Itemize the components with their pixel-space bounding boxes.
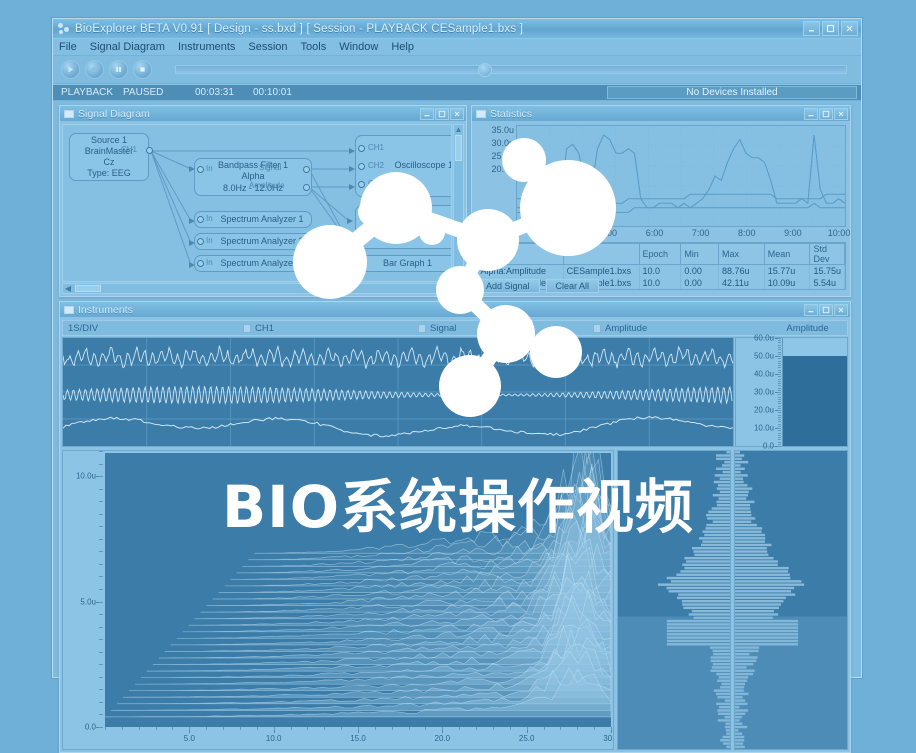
menu-item-file[interactable]: File	[59, 41, 77, 53]
bar-y-minor-tick	[778, 419, 781, 420]
bar-y-minor-tick	[778, 374, 781, 375]
bar-y-minor-tick	[778, 446, 781, 447]
waterfall-y-minor-tick	[99, 451, 103, 452]
waterfall-x-minor-tick	[577, 727, 578, 730]
statistics-chart-lines	[517, 126, 845, 226]
source-out-port-label: CH1	[121, 145, 137, 154]
bar-y-tick-label: 10.0u	[754, 424, 774, 433]
waterfall-y-minor-tick	[99, 551, 103, 552]
window-controls	[803, 21, 858, 36]
waterfall-x-minor-tick	[324, 727, 325, 730]
bar-y-minor-tick	[778, 401, 781, 402]
maximize-icon[interactable]	[819, 108, 833, 120]
waterfall-y-minor-tick	[99, 689, 103, 690]
node-trigger-enable[interactable]: Trigger Enable	[355, 205, 452, 249]
signal-color-chip	[418, 324, 426, 333]
window-icon	[64, 306, 74, 314]
bar-y-minor-tick	[778, 370, 781, 371]
table-header-row: Epoch Min Max Mean Std Dev	[478, 244, 845, 265]
waterfall-x-tick-label: 5.0	[184, 734, 195, 743]
bar-y-minor-tick	[778, 342, 781, 343]
scope-ch1-label: CH1	[368, 143, 384, 152]
bar-y-minor-tick	[778, 439, 781, 440]
bar-y-minor-tick	[778, 410, 781, 411]
signal-diagram-vscrollbar[interactable]: ▲	[453, 124, 464, 282]
bar-y-minor-tick	[778, 394, 781, 395]
statistics-chart-xaxis: 4:005:006:007:008:009:0010:00	[516, 228, 846, 240]
bar-y-minor-tick	[778, 354, 781, 355]
playback-slider[interactable]	[175, 65, 847, 74]
bar-y-minor-tick	[778, 363, 781, 364]
timebase-label: 1S/DIV	[63, 323, 238, 334]
source-out-port[interactable]	[146, 147, 153, 154]
waterfall-x-minor-tick	[392, 727, 393, 730]
bar-y-minor-tick	[778, 430, 781, 431]
analyzer-2-in-port[interactable]	[197, 238, 204, 245]
waterfall-x-minor-tick	[307, 727, 308, 730]
scroll-left-icon[interactable]: ◀	[63, 284, 73, 294]
analyzer-3-in-port[interactable]	[197, 260, 204, 267]
filter-amplitude-port[interactable]	[303, 184, 310, 191]
col-epoch: Epoch	[639, 244, 681, 265]
waterfall-y-minor-tick	[99, 627, 103, 628]
waterfall-x-minor-tick	[122, 727, 123, 730]
bar-y-minor-tick	[778, 352, 781, 353]
close-icon[interactable]	[450, 108, 464, 120]
scope-ch3-label: CH3	[368, 179, 384, 188]
y-tick-label: 30.0u	[491, 138, 514, 148]
waterfall-x-minor-tick	[139, 727, 140, 730]
waterfall-y-minor-tick	[99, 589, 103, 590]
ch1-legend[interactable]: CH1	[238, 323, 413, 334]
bar-y-minor-tick	[778, 379, 781, 380]
status-state: PAUSED	[119, 87, 191, 98]
bar-y-minor-tick	[778, 435, 781, 436]
x-tick-label: 10:00	[828, 228, 850, 238]
ch1-label: CH1	[255, 323, 274, 334]
play-button[interactable]	[61, 60, 80, 79]
window-title: BioExplorer BETA V0.91 [ Design - ss.bxd…	[75, 23, 803, 35]
statistics-chart: 35.0u30.0u25.0u20.0u	[476, 125, 846, 227]
bar-y-minor-tick	[778, 358, 781, 359]
scroll-up-icon[interactable]: ▲	[454, 125, 463, 135]
mean-cell: 4.01u	[764, 289, 810, 291]
bar-y-minor-tick	[778, 415, 781, 416]
waterfall-y-minor-tick	[99, 639, 103, 640]
bar-y-tick-label: 50.0u	[754, 351, 774, 360]
bar-graph-label: Bar Graph 1	[383, 258, 432, 269]
menu-item-signal-diagram[interactable]: Signal Diagram	[90, 41, 165, 53]
bar-y-minor-tick	[778, 381, 781, 382]
bar-y-minor-tick	[778, 372, 781, 373]
bar-y-minor-tick	[778, 399, 781, 400]
waterfall-y-minor-tick	[99, 652, 103, 653]
signal-diagram-canvas[interactable]: Source 1 BrainMaster Cz Type: EEG CH1 Ba…	[62, 124, 452, 282]
col-min: Min	[681, 244, 719, 265]
waterfall-y-minor-tick	[99, 702, 103, 703]
bar-y-minor-tick	[778, 397, 781, 398]
scope-ch3-port[interactable]	[358, 181, 365, 188]
max-cell: 25.25u	[718, 289, 764, 291]
enable-label: Enable	[393, 227, 421, 238]
waveform-traces	[63, 338, 733, 446]
col-signal	[478, 244, 564, 265]
status-elapsed: 00:03:31	[191, 87, 249, 98]
waterfall-x-minor-tick	[409, 727, 410, 730]
mean-cell: 10.09u	[764, 277, 810, 289]
signal-cell: Alpha:Amplitude	[478, 265, 564, 277]
clear-all-button[interactable]: Clear All	[546, 279, 600, 293]
waterfall-x-minor-tick	[425, 727, 426, 730]
waterfall-x-minor-tick	[527, 727, 528, 730]
analyzer-1-in-port[interactable]	[197, 216, 204, 223]
waterfall-x-minor-tick	[544, 727, 545, 730]
waterfall-x-minor-tick	[156, 727, 157, 730]
bar-y-minor-tick	[778, 345, 781, 346]
analyzer-1-label: Spectrum Analyzer 1	[220, 214, 303, 225]
waterfall-y-minor-tick	[99, 664, 103, 665]
min-cell: 0.00	[681, 265, 719, 277]
waterfall-x-minor-tick	[459, 727, 460, 730]
bar-y-minor-tick	[778, 412, 781, 413]
statistics-chart-plot	[516, 125, 846, 227]
waterfall-y-minor-tick	[99, 677, 103, 678]
bar-y-minor-tick	[778, 340, 781, 341]
epoch-cell: 10.0	[639, 289, 681, 291]
filter-in-port[interactable]	[197, 166, 204, 173]
waterfall-x-tick-label: 15.0	[350, 734, 366, 743]
source-site: Cz	[104, 157, 115, 168]
bar-graph-area	[782, 338, 847, 446]
minimize-icon[interactable]	[804, 108, 818, 120]
waterfall-xaxis: 5.010.015.020.025.030.0	[105, 727, 611, 747]
signal-diagram-body: Source 1 BrainMaster Cz Type: EEG CH1 Ba…	[60, 122, 466, 296]
waterfall-y-tick-label: 0.0	[85, 723, 96, 732]
waterfall-x-minor-tick	[172, 727, 173, 730]
analyzer-1-in-label: In	[206, 214, 213, 223]
y-tick-label: 25.0u	[491, 151, 514, 161]
title-bar[interactable]: BioExplorer BETA V0.91 [ Design - ss.bxd…	[53, 19, 861, 39]
statistics-title-bar[interactable]: Statistics	[472, 106, 850, 122]
waterfall-x-minor-tick	[476, 727, 477, 730]
menu-item-window[interactable]: Window	[339, 41, 378, 53]
status-bar: PLAYBACK PAUSED 00:03:31 00:10:01 No Dev…	[53, 84, 861, 101]
add-signal-button[interactable]: Add Signal	[476, 279, 540, 293]
waterfall-y-minor-tick	[99, 464, 103, 465]
std-cell: 15.75u	[810, 265, 845, 277]
waterfall-x-minor-tick	[375, 727, 376, 730]
waterfall-x-minor-tick	[257, 727, 258, 730]
menu-item-tools[interactable]: Tools	[301, 41, 327, 53]
waterfall-y-minor-tick	[99, 476, 103, 477]
x-tick-label: 4:00	[553, 228, 571, 238]
signal-label: Signal	[430, 323, 456, 334]
vscroll-thumb[interactable]	[455, 135, 462, 161]
analyzer-2-in-label: In	[206, 236, 213, 245]
waterfall-x-minor-tick	[240, 727, 241, 730]
mean-cell: 15.77u	[764, 265, 810, 277]
filter-in-label: In	[206, 164, 213, 173]
bar-y-minor-tick	[778, 428, 781, 429]
waterfall-y-minor-tick	[99, 714, 103, 715]
bar-y-minor-tick	[778, 383, 781, 384]
epoch-cell: 10.0	[639, 277, 681, 289]
bar-y-minor-tick	[778, 408, 781, 409]
waterfall-x-tick-label: 25.0	[519, 734, 535, 743]
bar-y-tick-label: 30.0u	[754, 388, 774, 397]
stop-button[interactable]	[133, 60, 152, 79]
filter-signal-label: Signal	[259, 163, 281, 172]
toolbar	[53, 56, 861, 84]
status-mode: PLAYBACK	[57, 87, 119, 98]
playback-slider-thumb[interactable]	[478, 63, 492, 77]
window-icon	[64, 110, 74, 118]
ch1-color-chip	[243, 324, 251, 333]
status-devices: No Devices Installed	[607, 86, 857, 99]
source-type: Type: EEG	[87, 168, 131, 179]
waterfall-x-minor-tick	[611, 727, 612, 730]
menu-item-instruments[interactable]: Instruments	[178, 41, 235, 53]
waterfall-x-minor-tick	[493, 727, 494, 730]
max-cell: 42.11u	[718, 277, 764, 289]
menu-item-help[interactable]: Help	[391, 41, 414, 53]
bar-y-minor-tick	[778, 433, 781, 434]
waterfall-x-tick-label: 20.0	[435, 734, 451, 743]
col-file	[563, 244, 639, 265]
y-tick-label: 35.0u	[491, 125, 514, 135]
waterfall-x-minor-tick	[223, 727, 224, 730]
scope-ch2-port[interactable]	[358, 163, 365, 170]
waterfall-x-minor-tick	[206, 727, 207, 730]
x-tick-label: 7:00	[692, 228, 710, 238]
minimize-icon[interactable]	[803, 21, 820, 36]
waterfall-y-minor-tick	[99, 614, 103, 615]
maximize-icon[interactable]	[822, 21, 839, 36]
waterfall-x-minor-tick	[560, 727, 561, 730]
waterfall-y-minor-tick	[99, 602, 103, 603]
menu-bar: File Signal Diagram Instruments Session …	[53, 39, 861, 56]
waterfall-y-minor-tick	[99, 564, 103, 565]
bar-y-minor-tick	[778, 390, 781, 391]
epoch-cell: 10.0	[639, 265, 681, 277]
analyzer-3-label: Spectrum Analyzer 3	[220, 258, 303, 269]
scope-ch1-port[interactable]	[358, 145, 365, 152]
bar-y-minor-tick	[778, 361, 781, 362]
statistics-buttons: Add Signal Clear All	[476, 279, 599, 293]
minimize-icon[interactable]	[420, 108, 434, 120]
application-window: BioExplorer BETA V0.91 [ Design - ss.bxd…	[52, 18, 862, 678]
waterfall-x-minor-tick	[358, 727, 359, 730]
pause-button[interactable]	[109, 60, 128, 79]
amplitude-label: Amplitude	[605, 323, 647, 334]
bar-y-minor-tick	[778, 349, 781, 350]
instruments-title-bar[interactable]: Instruments	[60, 302, 850, 318]
waterfall-x-minor-tick	[341, 727, 342, 730]
col-max: Max	[718, 244, 764, 265]
filter-amplitude-label: Amplitude	[249, 181, 285, 190]
trigger-label: Trigger	[393, 216, 421, 227]
signal-diagram-hscrollbar[interactable]: ◀	[62, 283, 452, 294]
waterfall-y-minor-tick	[99, 576, 103, 577]
instruments-title: Instruments	[78, 304, 803, 316]
bar-y-tick-label: 60.0u	[754, 334, 774, 343]
std-cell: 2.50u	[810, 289, 845, 291]
waveform-traces-panel[interactable]	[62, 337, 734, 447]
bar-y-minor-tick	[778, 367, 781, 368]
maximize-icon[interactable]	[819, 304, 833, 316]
table-row[interactable]: Alpha:AmplitudeCESample1.bxs10.00.0088.7…	[478, 265, 845, 277]
waterfall-x-minor-tick	[442, 727, 443, 730]
file-cell: CESample1.bxs	[563, 265, 639, 277]
bar-y-minor-tick	[778, 388, 781, 389]
bar-y-minor-tick	[778, 347, 781, 348]
signal-diagram-window: Signal Diagram	[59, 105, 467, 297]
bar-graph-title: Amplitude	[768, 323, 847, 334]
statistics-title: Statistics	[490, 108, 803, 120]
x-tick-label: 9:00	[784, 228, 802, 238]
bar-y-minor-tick	[778, 356, 781, 357]
waterfall-x-tick-label: 30.0	[603, 734, 614, 743]
statistics-chart-yaxis: 35.0u30.0u25.0u20.0u	[476, 125, 516, 227]
minimize-icon[interactable]	[804, 304, 818, 316]
close-icon[interactable]	[834, 108, 848, 120]
bar-y-minor-tick	[778, 426, 781, 427]
y-tick-label: 20.0u	[491, 164, 514, 174]
waterfall-x-minor-tick	[105, 727, 106, 730]
bar-y-minor-tick	[778, 424, 781, 425]
bar-y-minor-tick	[778, 385, 781, 386]
bar-y-minor-tick	[778, 444, 781, 445]
min-cell: 0.00	[681, 289, 719, 291]
max-cell: 88.76u	[718, 265, 764, 277]
overlay-caption: BIO系统操作视频	[0, 478, 916, 536]
signal-diagram-title-bar[interactable]: Signal Diagram	[60, 106, 466, 122]
filter-signal-port[interactable]	[303, 166, 310, 173]
amplitude-color-chip	[593, 324, 601, 333]
x-tick-label: 6:00	[646, 228, 664, 238]
analyzer-3-in-label: In	[206, 258, 213, 267]
hscroll-thumb[interactable]	[75, 285, 101, 292]
bar-y-minor-tick	[778, 417, 781, 418]
bar-graph-fill	[783, 356, 847, 446]
bar-y-minor-tick	[778, 403, 781, 404]
waterfall-y-tick-label: 5.0u	[80, 597, 96, 606]
x-tick-label: 8:00	[738, 228, 756, 238]
oscilloscope-name: Oscilloscope 1	[394, 160, 452, 171]
statistics-window: Statistics 35.0u30.0u25.0u20.0u 4:005:00…	[471, 105, 851, 297]
maximize-icon[interactable]	[435, 108, 449, 120]
bar-y-minor-tick	[778, 338, 781, 339]
record-button[interactable]	[85, 60, 104, 79]
node-bar-graph-1[interactable]: Bar Graph 1	[355, 255, 452, 272]
bar-y-minor-tick	[778, 392, 781, 393]
bar-y-minor-tick	[778, 365, 781, 366]
close-icon[interactable]	[834, 304, 848, 316]
bar-y-minor-tick	[778, 406, 781, 407]
waterfall-x-minor-tick	[594, 727, 595, 730]
signal-legend[interactable]: Signal	[413, 323, 588, 334]
amplitude-legend[interactable]: Amplitude	[588, 323, 768, 334]
x-tick-label: 5:00	[600, 228, 618, 238]
bar-y-minor-tick	[778, 421, 781, 422]
signal-diagram-title: Signal Diagram	[78, 108, 419, 120]
close-icon[interactable]	[841, 21, 858, 36]
col-stddev: Std Dev	[810, 244, 845, 265]
waterfall-x-minor-tick	[510, 727, 511, 730]
col-mean: Mean	[764, 244, 810, 265]
node-source-1[interactable]: Source 1 BrainMaster Cz Type: EEG	[69, 133, 149, 181]
mdi-client-area: Signal Diagram	[53, 101, 861, 677]
min-cell: 0.00	[681, 277, 719, 289]
waterfall-y-minor-tick	[99, 539, 103, 540]
waterfall-x-minor-tick	[189, 727, 190, 730]
instruments-header: 1S/DIV CH1 Signal Amplitude Amplitude	[62, 320, 848, 336]
molecule-icon	[58, 22, 71, 35]
std-cell: 5.54u	[810, 277, 845, 289]
bar-y-tick-label: 20.0u	[754, 405, 774, 414]
bar-y-tick-label: 40.0u	[754, 369, 774, 378]
bar-y-minor-tick	[778, 376, 781, 377]
waterfall-x-minor-tick	[291, 727, 292, 730]
waterfall-x-tick-label: 10.0	[266, 734, 282, 743]
waterfall-y-minor-tick	[99, 727, 103, 728]
bar-y-minor-tick	[778, 437, 781, 438]
menu-item-session[interactable]: Session	[248, 41, 287, 53]
amplitude-bar-graph[interactable]: 60.0u50.0u40.0u30.0u20.0u10.0u0.0	[735, 337, 848, 447]
analyzer-2-label: Spectrum Analyzer 2	[220, 236, 303, 247]
bar-graph-axis: 60.0u50.0u40.0u30.0u20.0u10.0u0.0	[736, 338, 782, 446]
statistics-body: 35.0u30.0u25.0u20.0u 4:005:006:007:008:0…	[472, 122, 850, 296]
scope-ch2-label: CH2	[368, 161, 384, 170]
window-icon	[476, 110, 486, 118]
status-total: 00:10:01	[249, 87, 319, 98]
bar-y-minor-tick	[778, 442, 781, 443]
waterfall-x-minor-tick	[274, 727, 275, 730]
